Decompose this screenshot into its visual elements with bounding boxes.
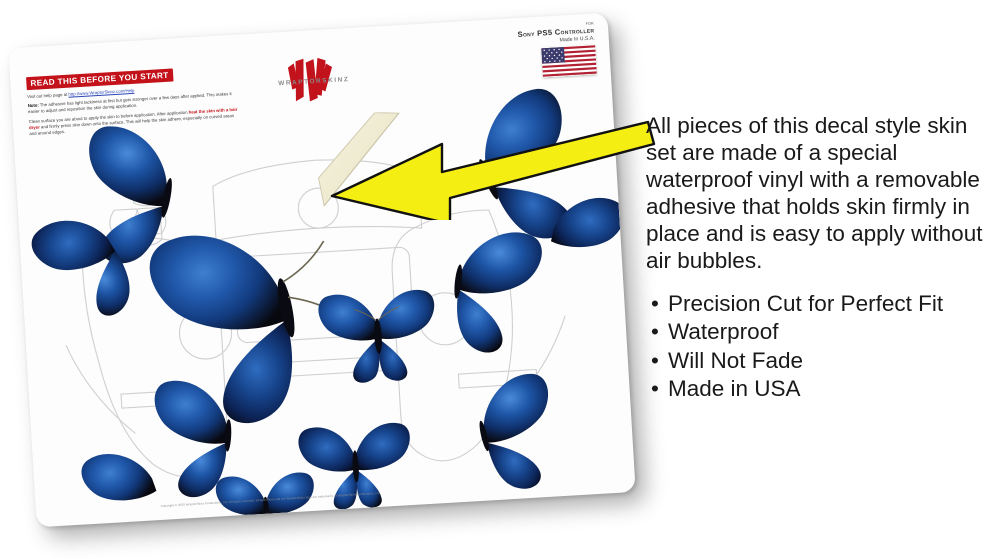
instructions-block: READ THIS BEFORE YOU START Visit out hel… [26,61,239,138]
list-item: • Will Not Fade [646,347,990,375]
list-item: • Precision Cut for Perfect Fit [646,290,990,318]
feature-label: Made in USA [668,376,801,401]
decal-sheet: READ THIS BEFORE YOU START Visit out hel… [8,13,635,528]
list-item: • Waterproof [646,318,990,346]
feature-label: Will Not Fade [668,348,803,373]
feature-label: Waterproof [668,319,778,344]
bullet-icon: • [651,347,659,375]
callout-arrow-icon [310,100,660,220]
butterfly [77,441,157,514]
feature-list: • Precision Cut for Perfect Fit • Waterp… [646,290,990,403]
list-item: • Made in USA [646,375,990,403]
bullet-icon: • [651,290,659,318]
bullet-icon: • [651,318,659,346]
note-label: Note: [28,103,39,109]
marketing-copy: All pieces of this decal style skin set … [646,112,990,403]
description-paragraph: All pieces of this decal style skin set … [646,112,990,274]
help-url-link[interactable]: http://www.WraptorSkinz.com/Help [68,88,134,97]
usa-flag-icon [541,44,597,77]
product-image: READ THIS BEFORE YOU START Visit out hel… [0,0,1000,559]
sheet-surface: READ THIS BEFORE YOU START Visit out hel… [8,13,635,528]
butterfly [447,226,544,358]
butterfly [470,370,569,496]
feature-label: Precision Cut for Perfect Fit [668,291,943,316]
sheet-header: FOR Sony PS5 Controller Made In U.S.A. [517,21,597,83]
bullet-icon: • [651,375,659,403]
